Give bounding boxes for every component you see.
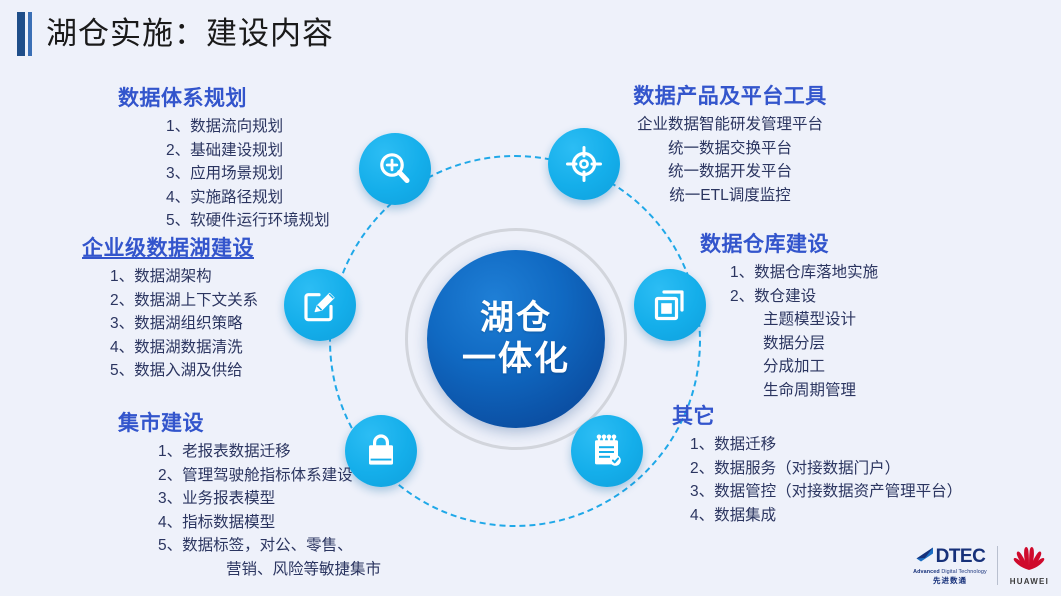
notepad-check-icon: [588, 432, 626, 470]
list-item: 企业数据智能研发管理平台: [600, 113, 860, 137]
list-item: 4、实施路径规划: [166, 186, 330, 210]
dtec-arrow-icon: [915, 546, 935, 568]
huawei-logo: HUAWEI: [998, 545, 1049, 586]
list-item: 2、数仓建设: [730, 285, 878, 309]
block-planning-heading: 数据体系规划: [118, 82, 330, 112]
footer-logos: DTEC Advanced Digital Technology 先进数通: [913, 545, 1049, 586]
list-item: 4、指标数据模型: [158, 511, 381, 535]
list-item: 统一数据开发平台: [600, 160, 860, 184]
list-item: 1、数据流向规划: [166, 115, 330, 139]
list-item: 3、应用场景规划: [166, 162, 330, 186]
block-other: 其它 1、数据迁移 2、数据服务（对接数据门户） 3、数据管控（对接数据资产管理…: [672, 400, 962, 527]
list-item: 统一ETL调度监控: [600, 184, 860, 208]
list-item: 1、数据仓库落地实施: [730, 261, 878, 285]
block-warehouse-list: 1、数据仓库落地实施 2、数仓建设 主题模型设计 数据分层 分成加工 生命周期管…: [700, 261, 878, 402]
block-warehouse-heading: 数据仓库建设: [700, 228, 878, 258]
list-item: 5、数据入湖及供给: [110, 359, 258, 383]
list-item: 1、老报表数据迁移: [158, 440, 381, 464]
block-datalake-heading: 企业级数据湖建设: [82, 232, 258, 262]
block-other-list: 1、数据迁移 2、数据服务（对接数据门户） 3、数据管控（对接数据资产管理平台）…: [672, 433, 962, 527]
list-item: 1、数据湖架构: [110, 265, 258, 289]
center-title-line1: 湖仓: [480, 298, 552, 339]
magnifier-plus-icon: [375, 149, 415, 189]
block-planning: 数据体系规划 1、数据流向规划 2、基础建设规划 3、应用场景规划 4、实施路径…: [118, 82, 330, 233]
edit-pencil-square-icon: [301, 286, 339, 324]
list-subitem: 分成加工: [730, 355, 878, 379]
block-datalake: 企业级数据湖建设 1、数据湖架构 2、数据湖上下文关系 3、数据湖组织策略 4、…: [82, 232, 258, 383]
huawei-flower-icon: [1012, 545, 1046, 576]
block-other-heading: 其它: [672, 400, 962, 430]
list-item: 5、数据标签，对公、零售、: [158, 534, 381, 558]
huawei-wordmark: HUAWEI: [1010, 577, 1049, 586]
list-item: 2、数据湖上下文关系: [110, 289, 258, 313]
list-item: 3、数据管控（对接数据资产管理平台）: [690, 480, 962, 504]
dtec-wordmark: DTEC: [936, 547, 986, 566]
block-mart-heading: 集市建设: [118, 407, 381, 437]
list-item-continuation: 营销、风险等敏捷集市: [158, 558, 381, 582]
list-item: 3、业务报表模型: [158, 487, 381, 511]
dtec-tagline-rest: Digital Technology: [940, 569, 987, 575]
block-warehouse: 数据仓库建设 1、数据仓库落地实施 2、数仓建设 主题模型设计 数据分层 分成加…: [700, 228, 878, 402]
node-other[interactable]: [571, 415, 643, 487]
list-item: 2、管理驾驶舱指标体系建设: [158, 464, 381, 488]
list-subitem: 生命周期管理: [730, 379, 878, 403]
crosshair-target-icon: [564, 144, 604, 184]
block-mart-list: 1、老报表数据迁移 2、管理驾驶舱指标体系建设 3、业务报表模型 4、指标数据模…: [118, 440, 381, 581]
block-planning-list: 1、数据流向规划 2、基础建设规划 3、应用场景规划 4、实施路径规划 5、软硬…: [118, 115, 330, 233]
slide-canvas: 湖仓实施：建设内容 湖仓 一体化: [0, 0, 1061, 596]
list-item: 1、数据迁移: [690, 433, 962, 457]
list-subitem: 主题模型设计: [730, 308, 878, 332]
list-item: 4、数据集成: [690, 504, 962, 528]
list-item: 3、数据湖组织策略: [110, 312, 258, 336]
copy-layers-icon: [651, 286, 689, 324]
list-item: 2、数据服务（对接数据门户）: [690, 457, 962, 481]
dtec-tagline: Advanced Digital Technology: [913, 569, 987, 576]
list-item: 统一数据交换平台: [600, 137, 860, 161]
block-products-heading: 数据产品及平台工具: [600, 80, 860, 110]
node-datalake[interactable]: [284, 269, 356, 341]
node-planning[interactable]: [359, 133, 431, 205]
node-warehouse[interactable]: [634, 269, 706, 341]
dtec-tagline-bold: Advanced: [913, 569, 940, 575]
block-products-list: 企业数据智能研发管理平台 统一数据交换平台 统一数据开发平台 统一ETL调度监控: [600, 113, 860, 207]
dtec-chinese-name: 先进数通: [933, 576, 967, 586]
dtec-logo: DTEC Advanced Digital Technology 先进数通: [913, 546, 998, 586]
center-hub-circle: 湖仓 一体化: [427, 250, 605, 428]
list-item: 2、基础建设规划: [166, 139, 330, 163]
list-item: 4、数据湖数据清洗: [110, 336, 258, 360]
list-item: 5、软硬件运行环境规划: [166, 209, 330, 233]
block-products: 数据产品及平台工具 企业数据智能研发管理平台 统一数据交换平台 统一数据开发平台…: [600, 80, 860, 207]
dtec-logo-main: DTEC: [915, 546, 986, 568]
center-title-line2: 一体化: [462, 339, 570, 380]
block-datalake-list: 1、数据湖架构 2、数据湖上下文关系 3、数据湖组织策略 4、数据湖数据清洗 5…: [82, 265, 258, 383]
block-mart: 集市建设 1、老报表数据迁移 2、管理驾驶舱指标体系建设 3、业务报表模型 4、…: [118, 407, 381, 581]
list-subitem: 数据分层: [730, 332, 878, 356]
